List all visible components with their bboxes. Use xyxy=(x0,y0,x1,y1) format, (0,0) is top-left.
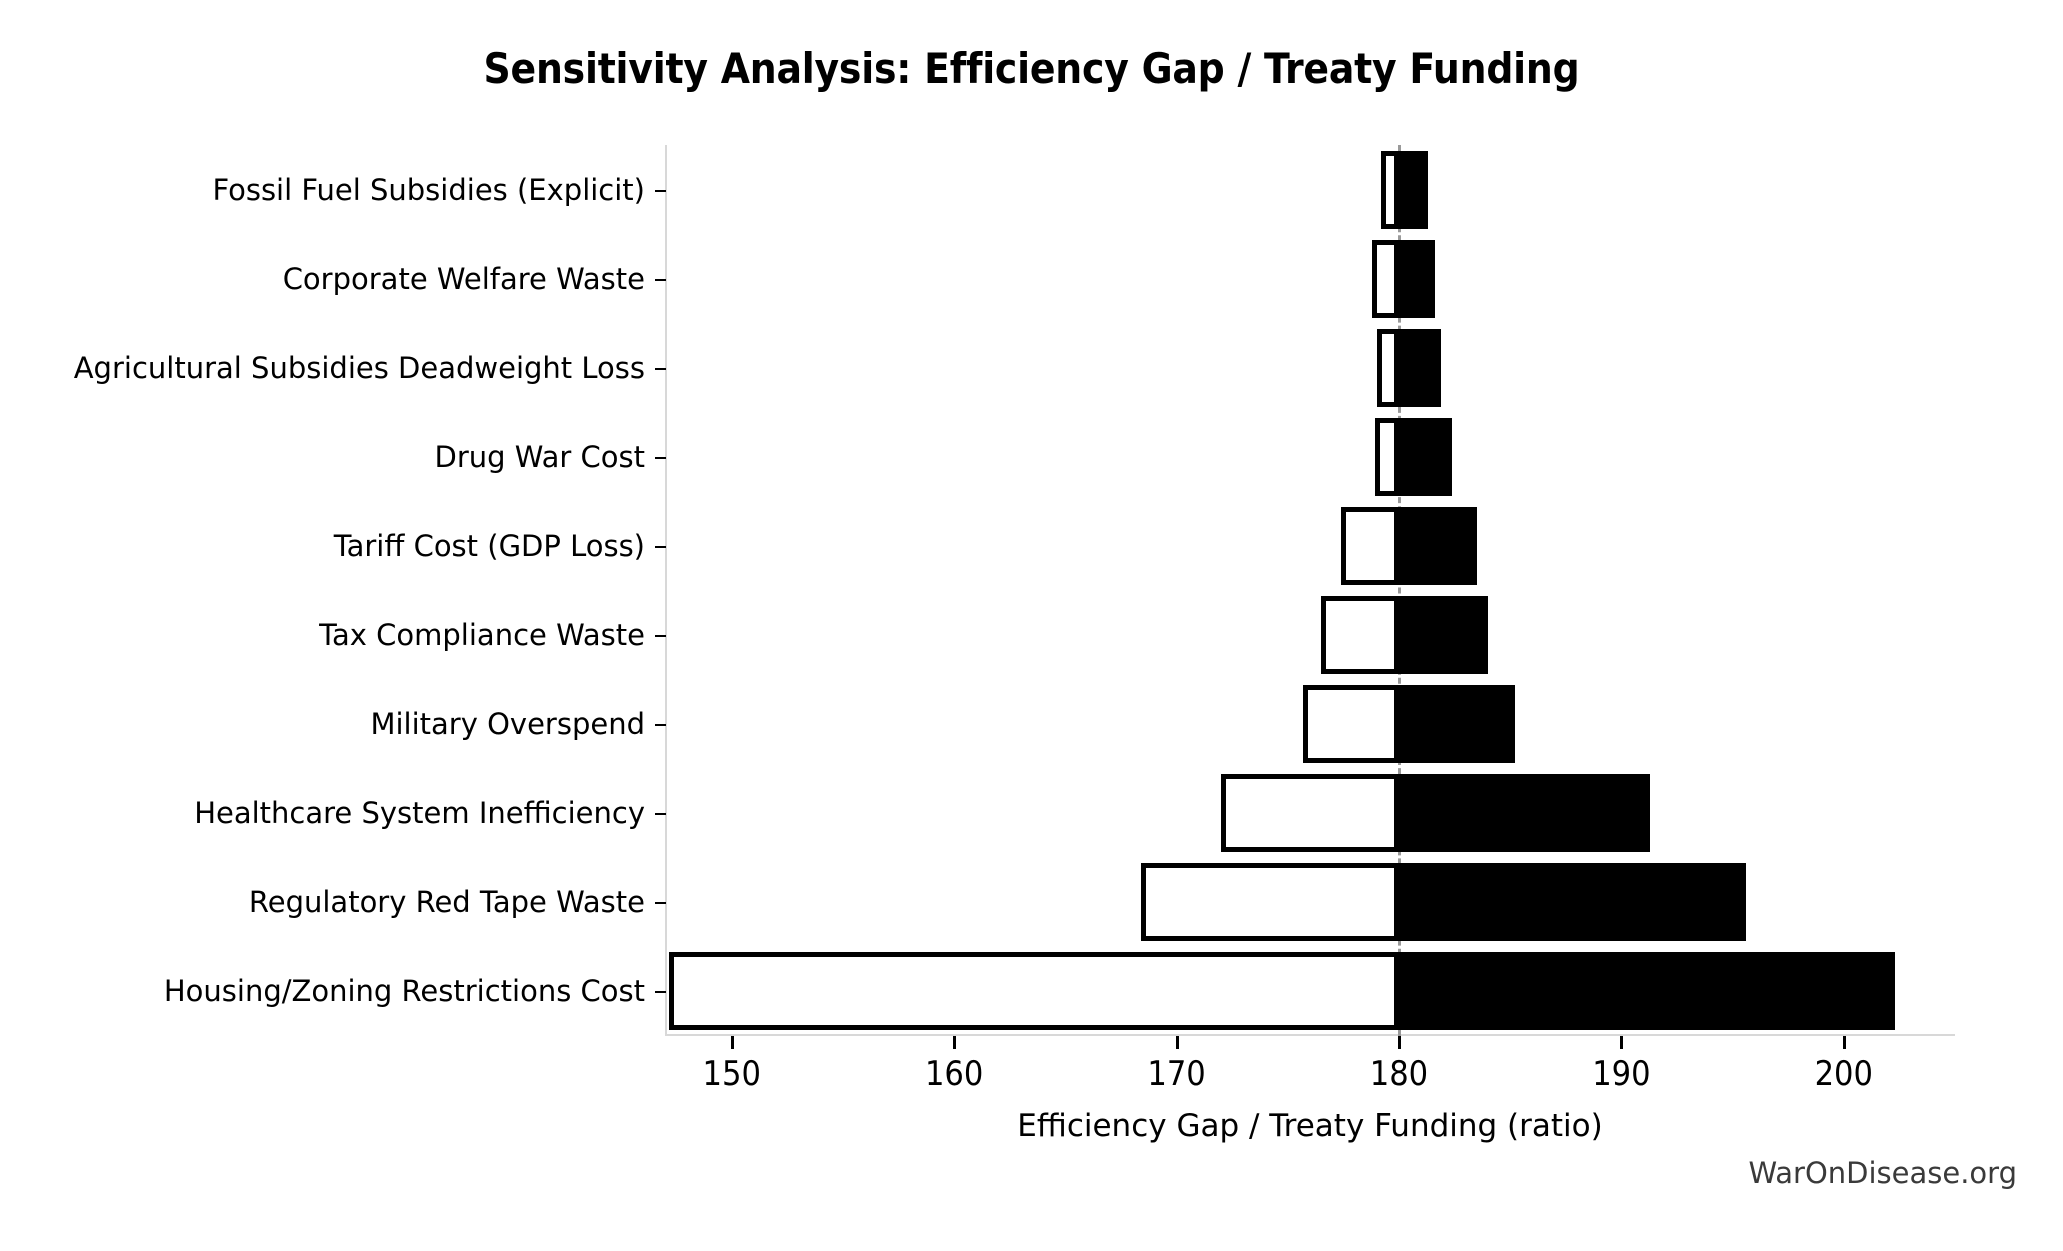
y-axis-tick-mark xyxy=(655,368,666,370)
y-axis-tick-label: Healthcare System Inefficiency xyxy=(194,796,645,830)
x-axis-tick-mark xyxy=(1398,1036,1401,1049)
y-axis-tick-label: Tariff Cost (GDP Loss) xyxy=(334,529,645,563)
x-axis-tick-mark xyxy=(1843,1036,1846,1049)
x-axis-tick-label: 190 xyxy=(1592,1054,1650,1094)
y-axis-tick-label: Fossil Fuel Subsidies (Explicit) xyxy=(212,173,645,207)
y-axis-tick-mark xyxy=(655,546,666,548)
y-axis-tick-mark xyxy=(655,635,666,637)
y-axis-tick-label: Tax Compliance Waste xyxy=(319,618,645,652)
x-axis-tick-label: 170 xyxy=(1147,1054,1205,1094)
x-axis-title: Efficiency Gap / Treaty Funding (ratio) xyxy=(665,1108,1955,1144)
x-axis-tick-label: 160 xyxy=(925,1054,983,1094)
y-axis-tick-mark xyxy=(655,902,666,904)
y-axis-tick-mark xyxy=(655,991,666,993)
y-axis-tick-mark xyxy=(655,457,666,459)
y-axis-tick-label: Housing/Zoning Restrictions Cost xyxy=(164,974,645,1008)
y-axis-tick-label: Regulatory Red Tape Waste xyxy=(249,885,645,919)
plot-area xyxy=(665,145,1955,1035)
x-axis-tick-mark xyxy=(731,1036,734,1049)
chart-title: Sensitivity Analysis: Efficiency Gap / T… xyxy=(0,44,2063,93)
x-axis-tick-label: 200 xyxy=(1815,1054,1873,1094)
x-axis-tick-mark xyxy=(1620,1036,1623,1049)
y-axis-tick-label: Drug War Cost xyxy=(435,440,645,474)
y-axis-tick-label: Agricultural Subsidies Deadweight Loss xyxy=(74,351,645,385)
y-axis-tick-mark xyxy=(655,813,666,815)
y-axis-tick-label: Military Overspend xyxy=(370,707,645,741)
y-axis-tick-mark xyxy=(655,190,666,192)
watermark: WarOnDisease.org xyxy=(1748,1156,2017,1190)
y-axis-tick-mark xyxy=(655,724,666,726)
x-axis-tick-mark xyxy=(953,1036,956,1049)
x-axis-tick-label: 180 xyxy=(1370,1054,1428,1094)
y-axis-tick-label: Corporate Welfare Waste xyxy=(283,262,645,296)
x-axis-tick-mark xyxy=(1176,1036,1179,1049)
x-axis-tick-label: 150 xyxy=(703,1054,761,1094)
y-axis-tick-mark xyxy=(655,279,666,281)
sensitivity-chart: Sensitivity Analysis: Efficiency Gap / T… xyxy=(0,0,2063,1251)
